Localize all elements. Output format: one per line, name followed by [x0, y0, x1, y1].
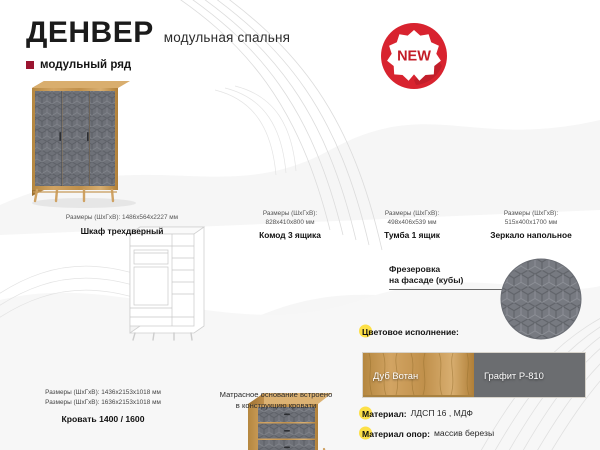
- mattress-base-note-line1: Матрасное основание встроено: [190, 389, 362, 400]
- support-material-label: Материал опор:: [362, 429, 430, 439]
- milling-line2: на фасаде (кубы): [389, 275, 507, 286]
- swatch-graphite[interactable]: Графит Р-810: [474, 353, 585, 397]
- mirror-dimensions: 515x400x1700 мм: [468, 219, 594, 228]
- mirror-dimensions-label: Размеры (ШxГxВ):: [468, 210, 594, 219]
- bed-dimensions-1400: Размеры (ШxГxВ): 1436x2153x1018 мм: [14, 388, 192, 398]
- modular-tag-label: модульный ряд: [40, 59, 131, 71]
- color-swatches: Дуб Вотан Графит Р-810: [362, 352, 586, 398]
- caption-mirror: Размеры (ШxГxВ): 515x400x1700 мм Зеркало…: [468, 210, 594, 240]
- material-label: Материал:: [362, 409, 407, 419]
- material-row: Материал: ЛДСП 16 , МДФ: [362, 404, 473, 422]
- product-image-wardrobe: [22, 72, 600, 210]
- nightstand-name: Тумба 1 ящик: [352, 230, 472, 240]
- milling-label: Фрезеровка на фасаде (кубы): [389, 264, 507, 290]
- bed-name: Кровать 1400 / 1600: [14, 414, 192, 424]
- page-subtitle: модульная спальня: [164, 30, 290, 45]
- dresser-dimensions-label: Размеры (ШxГxВ):: [230, 210, 350, 219]
- swatch-oak-label: Дуб Вотан: [373, 370, 418, 381]
- page-title: ДЕНВЕР: [26, 18, 154, 48]
- mattress-base-note: Матрасное основание встроено в конструкц…: [190, 389, 362, 412]
- milling-underline: [389, 289, 507, 290]
- square-bullet-icon: [26, 61, 34, 69]
- caption-bed: Размеры (ШxГxВ): 1436x2153x1018 мм Разме…: [14, 388, 192, 424]
- wardrobe-dimensions: Размеры (ШxГxВ): 1486x564x2227 мм: [14, 214, 230, 223]
- mirror-name: Зеркало напольное: [468, 230, 594, 240]
- nightstand-dimensions-label: Размеры (ШxГxВ):: [352, 210, 472, 219]
- dresser-name: Комод 3 ящика: [230, 230, 350, 240]
- mattress-base-note-line2: в конструкцию кровати: [190, 400, 362, 411]
- modular-tag: модульный ряд: [26, 59, 290, 71]
- color-section-title-label: Цветовое исполнение:: [362, 327, 459, 337]
- page-header: ДЕНВЕР модульная спальня модульный ряд: [26, 18, 290, 71]
- nightstand-dimensions: 498x406x539 мм: [352, 219, 472, 228]
- new-badge-label: NEW: [397, 49, 431, 65]
- milling-line1: Фрезеровка: [389, 264, 507, 275]
- material-value: ЛДСП 16 , МДФ: [411, 408, 473, 418]
- support-material-row: Материал опор: массив березы: [362, 424, 494, 442]
- caption-dresser: Размеры (ШxГxВ): 828x410x800 мм Комод 3 …: [230, 210, 350, 240]
- color-section-title: Цветовое исполнение:: [362, 322, 459, 340]
- caption-wardrobe: Размеры (ШxГxВ): 1486x564x2227 мм Шкаф т…: [14, 214, 230, 236]
- new-badge: NEW: [376, 18, 452, 94]
- bed-dimensions-1600: Размеры (ШxГxВ): 1636x2153x1018 мм: [14, 398, 192, 408]
- wardrobe-name: Шкаф трехдверный: [14, 226, 230, 236]
- support-material-value: массив березы: [434, 428, 494, 438]
- dresser-dimensions: 828x410x800 мм: [230, 219, 350, 228]
- milling-pattern-swatch: [500, 258, 582, 340]
- caption-nightstand: Размеры (ШxГxВ): 498x406x539 мм Тумба 1 …: [352, 210, 472, 240]
- swatch-oak[interactable]: Дуб Вотан: [363, 353, 474, 397]
- catalog-sheet: ДЕНВЕР модульная спальня модульный ряд N…: [0, 0, 600, 450]
- swatch-graphite-label: Графит Р-810: [484, 370, 544, 381]
